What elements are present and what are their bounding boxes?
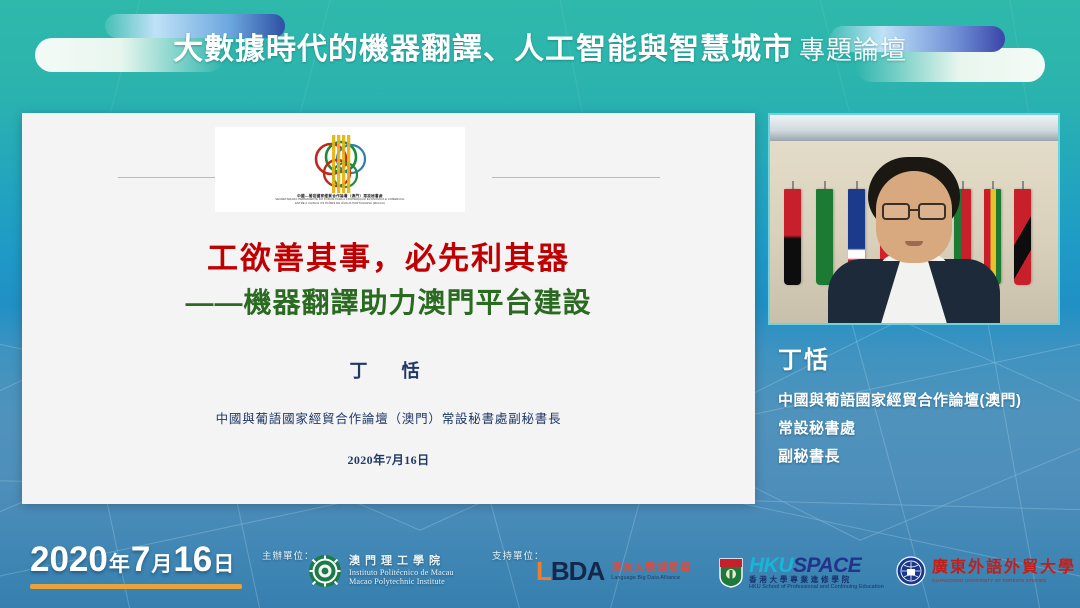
mpi-text: 澳門理工學院 Instituto Politécnico de Macau Ma… [349, 555, 454, 587]
speaker-name: 丁恬 [778, 340, 1078, 375]
mpi-gear-icon [308, 554, 342, 588]
slide-title-main: 工欲善其事，必先利其器 [22, 233, 755, 278]
hku-name-cn: 香港大學專業進修學院 [749, 576, 884, 584]
forum-title-suffix: 專題論壇 [799, 35, 907, 65]
hku-text: HKUSPACE 香港大學專業進修學院 HKU School of Profes… [749, 556, 884, 590]
hku-mark-space: SPACE [793, 554, 861, 577]
event-date-year-unit: 年 [109, 553, 130, 576]
forum-title-main: 大數據時代的機器翻譯、人工智能與智慧城市 [173, 33, 793, 66]
event-date-underline [30, 584, 242, 589]
event-date-block: 2020年7月16日 [30, 540, 242, 589]
slide-card: 中國—葡語國家經貿合作論壇（澳門）常設秘書處 SECRETARIADO PERM… [22, 113, 755, 504]
lbda-text: 语言大数据联盟 Language Big Data Alliance [611, 563, 692, 583]
flag-angola [784, 189, 801, 285]
flag-timor-leste [1014, 189, 1031, 285]
speaker-org-line-1: 中國與葡語國家經貿合作論壇(澳門) [778, 387, 1078, 415]
slide-affiliation: 中國與葡語國家經貿合作論壇（澳門）常設秘書處副秘書長 [22, 408, 755, 427]
hku-name-en: HKU School of Professional and Continuin… [749, 584, 884, 590]
eyeglasses-left-lens [882, 203, 910, 220]
hku-mark-hku: HKU [749, 554, 793, 577]
flag-brazil [816, 189, 833, 285]
lbda-name-en: Language Big Data Alliance [611, 575, 692, 581]
logo-hku-space: HKUSPACE 香港大學專業進修學院 HKU School of Profes… [718, 556, 884, 590]
footer-bar: 2020年7月16日 主辦單位： 支持單位： [0, 530, 1080, 608]
eyeglasses-bridge [910, 209, 918, 211]
eyeglasses-right-lens [918, 203, 946, 220]
emblem-caption-en: ENTRE A CHINA E OS PAÍSES DE LÍNGUA PORT… [215, 202, 465, 205]
slide-title-sub: ——機器翻譯助力澳門平台建設 [22, 281, 755, 321]
forum-emblem-caption: 中國—葡語國家經貿合作論壇（澳門）常設秘書處 SECRETARIADO PERM… [215, 194, 465, 205]
speaker-lapel-right [928, 261, 948, 325]
lbda-mark-bda: BDA [551, 556, 604, 586]
event-date-month-unit: 月 [151, 553, 172, 576]
speaker-lapel-left [880, 261, 900, 325]
event-date-day: 16 [173, 540, 212, 579]
event-date-year: 2020 [30, 540, 108, 579]
speaker-org-line-2: 常設秘書處 [778, 415, 1078, 443]
event-date-day-unit: 日 [213, 553, 234, 576]
lbda-mark-l: L [536, 556, 551, 586]
event-date-month: 7 [131, 540, 150, 579]
gdufs-crest-icon [896, 556, 926, 586]
speaker-mouth [905, 241, 923, 246]
speaker-org-line-3: 副秘書長 [778, 443, 1078, 471]
slide-date: 2020年7月16日 [22, 451, 755, 468]
lbda-name-cn: 语言大数据联盟 [611, 563, 692, 575]
logo-lbda: LBDA 语言大数据联盟 Language Big Data Alliance [536, 560, 692, 583]
hku-wordmark: HKUSPACE [749, 556, 884, 576]
gdufs-text: 廣東外語外貿大學 GUANGDONG UNIVERSITY OF FOREIGN… [932, 558, 1076, 584]
speaker-info: 丁恬 中國與葡語國家經貿合作論壇(澳門) 常設秘書處 副秘書長 [778, 340, 1078, 470]
slide-author: 丁 恬 [22, 357, 755, 383]
organizer-label: 主辦單位： [262, 548, 315, 562]
divider-line-right [492, 177, 660, 178]
gdufs-name-cn: 廣東外語外貿大學 [932, 558, 1076, 578]
gdufs-name-en: GUANGDONG UNIVERSITY OF FOREIGN STUDIES [932, 578, 1076, 584]
mpi-name-cn: 澳門理工學院 [349, 555, 454, 568]
forum-emblem-icon [301, 133, 379, 195]
video-ceiling [770, 115, 1058, 141]
logo-macao-polytechnic: 澳門理工學院 Instituto Politécnico de Macau Ma… [308, 554, 454, 588]
hku-shield-icon [718, 558, 744, 588]
speaker-video-panel[interactable] [768, 113, 1060, 325]
forum-title: 大數據時代的機器翻譯、人工智能與智慧城市專題論壇 [0, 24, 1080, 68]
presentation-stage: 大數據時代的機器翻譯、人工智能與智慧城市專題論壇 [0, 0, 1080, 608]
event-date: 2020年7月16日 [30, 540, 242, 580]
mpi-name-en: Macao Polytechnic Institute [349, 577, 454, 587]
lbda-wordmark: LBDA [536, 560, 604, 583]
header-bar: 大數據時代的機器翻譯、人工智能與智慧城市專題論壇 [0, 0, 1080, 92]
forum-emblem-box: 中國—葡語國家經貿合作論壇（澳門）常設秘書處 SECRETARIADO PERM… [215, 127, 465, 212]
logo-gdufs: 廣東外語外貿大學 GUANGDONG UNIVERSITY OF FOREIGN… [896, 556, 1076, 586]
